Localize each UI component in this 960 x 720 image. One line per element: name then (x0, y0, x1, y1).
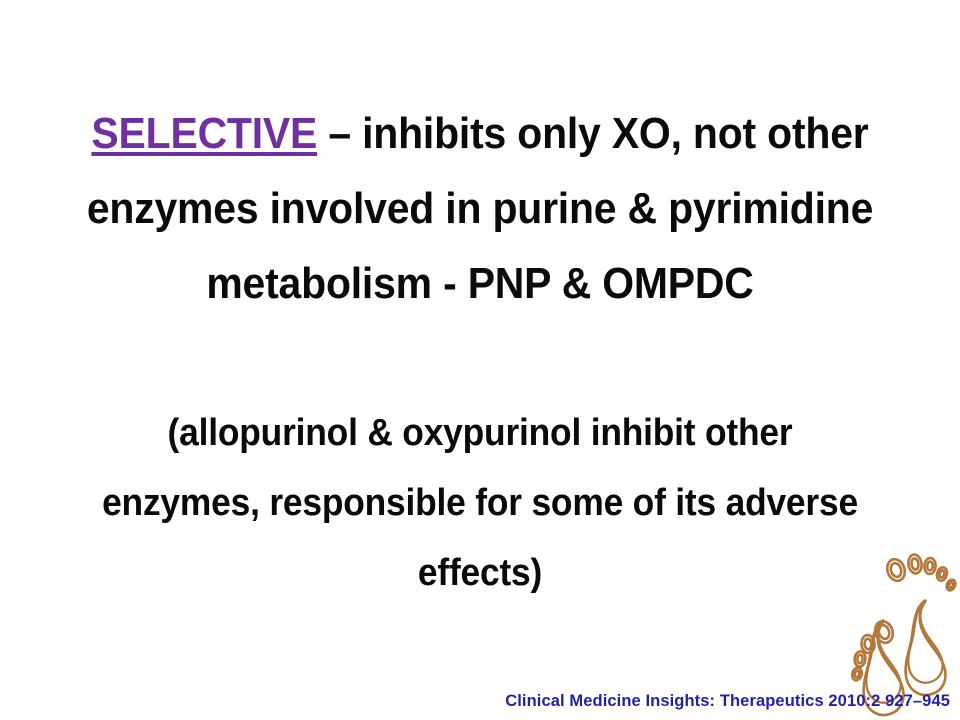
slide-canvas: SELECTIVE – inhibits only XO, not other … (0, 0, 960, 720)
secondary-line-2: enzymes, responsible for some of its adv… (34, 468, 927, 538)
secondary-line-3: effects) (34, 538, 927, 608)
primary-line-1: SELECTIVE – inhibits only XO, not other (34, 96, 927, 171)
source-citation: Clinical Medicine Insights: Therapeutics… (505, 692, 950, 711)
primary-line-2: enzymes involved in purine & pyrimidine (34, 171, 927, 246)
secondary-line-1: (allopurinol & oxypurinol inhibit other (34, 398, 927, 468)
secondary-paragraph: (allopurinol & oxypurinol inhibit other … (0, 398, 960, 608)
primary-line-3: metabolism - PNP & OMPDC (34, 246, 927, 321)
primary-line-1-rest: – inhibits only XO, not other (317, 109, 868, 158)
selective-keyword: SELECTIVE (91, 109, 317, 158)
primary-paragraph: SELECTIVE – inhibits only XO, not other … (0, 96, 960, 321)
